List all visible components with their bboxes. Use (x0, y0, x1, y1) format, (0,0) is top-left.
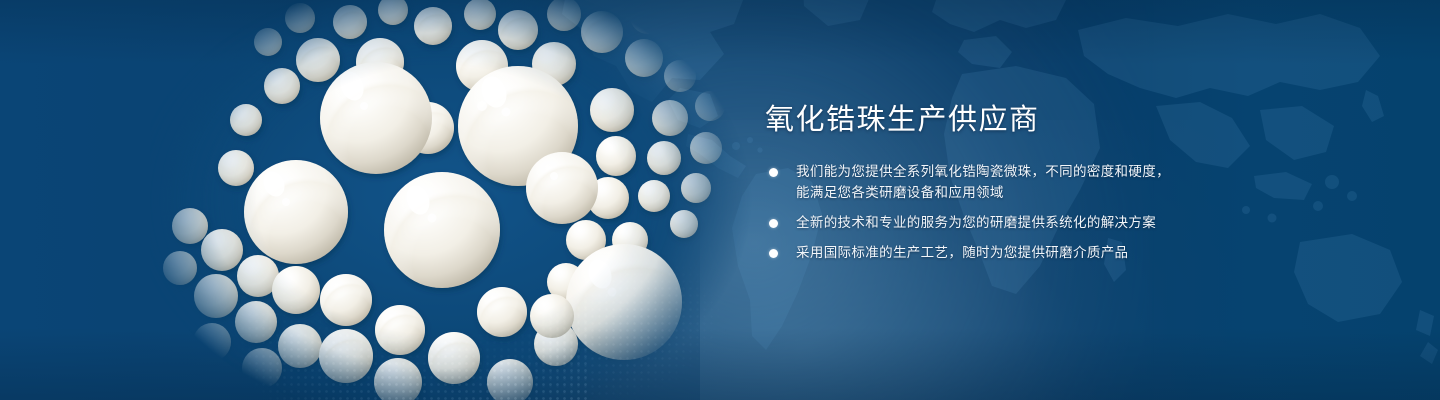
product-photo-zirconia-beads (150, 0, 770, 400)
bullet-dot-icon (769, 249, 778, 258)
list-item: 我们能为您提供全系列氧化锆陶瓷微珠，不同的密度和硬度， 能满足您各类研磨设备和应… (765, 162, 1235, 204)
banner-copy: 氧化锆珠生产供应商 我们能为您提供全系列氧化锆陶瓷微珠，不同的密度和硬度， 能满… (765, 104, 1235, 264)
list-item: 全新的技术和专业的服务为您的研磨提供系统化的解决方案 (765, 213, 1235, 234)
bullet-line: 采用国际标准的生产工艺，随时为您提供研磨介质产品 (796, 243, 1235, 264)
bullet-dot-icon (769, 168, 778, 177)
bullet-line: 我们能为您提供全系列氧化锆陶瓷微珠，不同的密度和硬度， (796, 162, 1235, 183)
bullet-line: 能满足您各类研磨设备和应用领域 (796, 183, 1235, 204)
bullet-line: 全新的技术和专业的服务为您的研磨提供系统化的解决方案 (796, 213, 1235, 234)
page-title: 氧化锆珠生产供应商 (765, 104, 1235, 136)
list-item: 采用国际标准的生产工艺，随时为您提供研磨介质产品 (765, 243, 1235, 264)
bullet-dot-icon (769, 219, 778, 228)
feature-list: 我们能为您提供全系列氧化锆陶瓷微珠，不同的密度和硬度， 能满足您各类研磨设备和应… (765, 162, 1235, 264)
hero-banner: 氧化锆珠生产供应商 我们能为您提供全系列氧化锆陶瓷微珠，不同的密度和硬度， 能满… (0, 0, 1440, 400)
